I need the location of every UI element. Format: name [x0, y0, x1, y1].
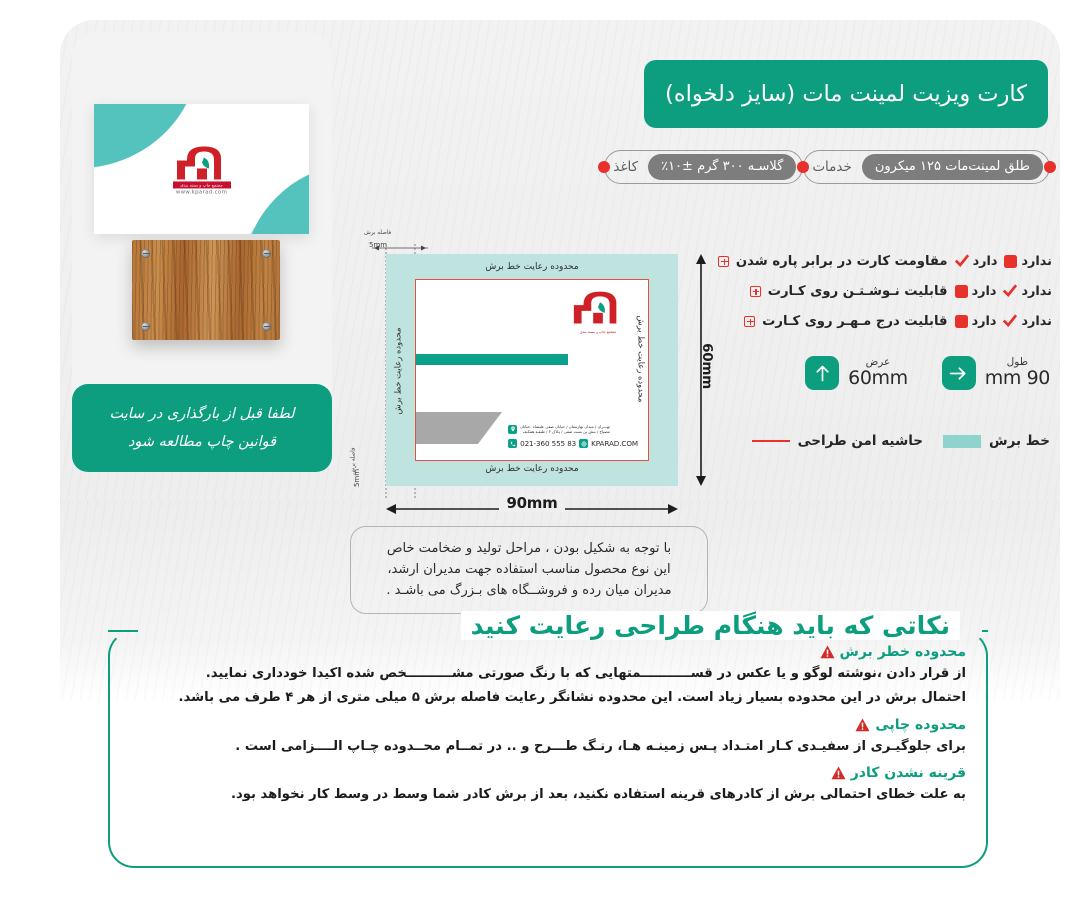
- sample-business-card: مجتمع چاپ و بسته بندی www.kparad.com: [94, 104, 309, 234]
- card-logo: مجتمع چاپ و بسته بندی: [561, 291, 635, 334]
- feature-no-label: ندارد: [1021, 254, 1052, 269]
- kparad-logo-icon: [173, 146, 231, 180]
- note-line: از قرار دادن ،نوشته لوگو و یا عکس در قسـ…: [130, 662, 966, 686]
- bullet-dot-icon: [1044, 161, 1056, 173]
- card-contact-block: تهـــران / میدان بهارستان / خیابان صفی ع…: [508, 424, 638, 448]
- bleed-area: مجتمع چاپ و بسته بندی تهـــران / میدان ب…: [386, 254, 678, 486]
- product-title: کارت ویزیت لمینت مات (سایز دلخواه): [665, 81, 1027, 107]
- screw-icon: [141, 249, 150, 258]
- legend-label: حاشیه امن طراحی: [798, 433, 923, 449]
- feature-yes-label: دارد: [972, 284, 997, 299]
- arrow-up-icon: [805, 356, 839, 390]
- plus-icon: [750, 286, 761, 297]
- feature-label: مقاومت کارت در برابر پاره شدن: [736, 254, 948, 269]
- dimension-length-value: 90 mm: [985, 369, 1050, 389]
- dimension-width-value: 60mm: [848, 369, 908, 389]
- card-spec-diagram: فاصله برش 5mm فاصله برش 5mm: [350, 226, 730, 518]
- notice-line-1: لطفا قبل از بارگذاری در سایت: [109, 407, 294, 422]
- width-dimension-label-wrap: 90mm: [386, 494, 678, 512]
- square-icon: [1004, 255, 1017, 268]
- spec-pill-row: طلق لمینت‌مات ۱۲۵ میکرون خدمات گلاسـه ۳۰…: [604, 150, 1050, 184]
- card-artboard: مجتمع چاپ و بسته بندی تهـــران / میدان ب…: [415, 279, 649, 461]
- globe-icon: [579, 439, 588, 448]
- description-line-3: مدیران میان رده و فروشــگاه های بـزرگ می…: [367, 580, 691, 601]
- note-line: برای جلوگیـری از سفیـدی کـار امتـداد پـس…: [130, 735, 966, 759]
- infographic-page: مجتمع چاپ و بسته بندی www.kparad.com لطف…: [0, 0, 1086, 911]
- warning-triangle-icon: [831, 766, 846, 780]
- card-logo-tagline: مجتمع چاپ و بسته بندی: [561, 330, 635, 334]
- feature-list: ندارد دارد مقاومت کارت در برابر پاره شدن…: [767, 246, 1052, 336]
- warning-triangle-icon: [820, 645, 835, 659]
- sample-card-website: www.kparad.com: [156, 189, 248, 195]
- spec-key-services: خدمات: [804, 159, 862, 175]
- product-description-box: با توجه به شکیل بودن ، مراحل تولید و ضخا…: [350, 526, 708, 614]
- feature-row: ندارد دارد قابلیت نـوشـتـن روی کـارت: [767, 276, 1052, 306]
- design-notes-heading: نکاتی که باید هنگام طراحی رعایت کنید: [461, 611, 960, 640]
- product-photo: مجتمع چاپ و بسته بندی www.kparad.com: [72, 32, 332, 362]
- diagram-left-label: محدوده رعایت خط برش: [392, 328, 402, 415]
- note-title: قرینه نشدن کادر: [851, 765, 966, 781]
- spec-value-paper: گلاسـه ۳۰۰ گرم ±۱۰٪: [648, 154, 796, 180]
- legend-item-safe-margin: حاشیه امن طراحی: [752, 433, 923, 449]
- description-line-1: با توجه به شکیل بودن ، مراحل تولید و ضخا…: [367, 538, 691, 559]
- spec-key-paper: کاغذ: [605, 159, 648, 175]
- note-title: محدوده خطر برش: [840, 644, 966, 660]
- check-icon: [955, 254, 969, 268]
- description-line-2: این نوع محصول مناسب استفاده جهت مدیران ا…: [367, 559, 691, 580]
- design-notes-body: محدوده خطر برش از قرار دادن ،نوشته لوگو …: [130, 644, 966, 814]
- dimension-width: عرض 60mm: [805, 356, 908, 390]
- notes-border-right: [982, 630, 988, 632]
- check-icon: [1003, 314, 1017, 328]
- note-title: محدوده چاپی: [875, 717, 966, 733]
- card-address-2: مصباح / نبش بن بست صفی / پـلاک ۴ / طبقـه…: [520, 429, 610, 435]
- feature-option-yes: دارد: [955, 314, 997, 329]
- square-icon: [955, 285, 968, 298]
- location-pin-icon: [508, 425, 517, 434]
- spec-value-services: طلق لمینت‌مات ۱۲۵ میکرون: [862, 154, 1043, 180]
- plus-icon: [744, 316, 755, 327]
- product-title-banner: کارت ویزیت لمینت مات (سایز دلخواه): [644, 60, 1048, 128]
- card-phone: 021-360 555 83: [520, 439, 576, 448]
- feature-option-no: ندارد: [1004, 254, 1052, 269]
- feature-row: ندارد دارد قابلیت درج مـهـر روی کـارت: [767, 306, 1052, 336]
- legend: خط برش حاشیه امن طراحی: [752, 433, 1050, 449]
- sample-card-logo: مجتمع چاپ و بسته بندی www.kparad.com: [156, 146, 248, 195]
- red-line-swatch-icon: [752, 440, 790, 443]
- feature-yes-label: دارد: [972, 314, 997, 329]
- note-line: احتمال برش در این محدوده بسیار زیاد است.…: [130, 686, 966, 710]
- wooden-display-block: [132, 240, 280, 340]
- product-details-panel: کارت ویزیت لمینت مات (سایز دلخواه) طلق ل…: [348, 28, 1060, 600]
- phone-icon: [508, 439, 517, 448]
- spec-group-paper: گلاسـه ۳۰۰ گرم ±۱۰٪ کاغذ: [604, 150, 803, 184]
- note-block-print-area: محدوده چاپی برای جلوگیـری از سفیـدی کـار…: [130, 717, 966, 759]
- screw-icon: [262, 322, 271, 331]
- spec-group-services: طلق لمینت‌مات ۱۲۵ میکرون خدمات: [803, 150, 1050, 184]
- note-block-cut-danger: محدوده خطر برش از قرار دادن ،نوشته لوگو …: [130, 644, 966, 711]
- note-line: به علت خطای احتمالی برش از کادرهای قرینه…: [130, 783, 966, 807]
- note-title-row: محدوده خطر برش: [130, 644, 966, 660]
- feature-option-no: ندارد: [1003, 284, 1052, 299]
- note-title-row: محدوده چاپی: [130, 717, 966, 733]
- notes-border-left: [108, 630, 138, 632]
- warning-triangle-icon: [855, 718, 870, 732]
- card-grey-shape: [416, 412, 502, 444]
- note-block-symmetry: قرینه نشدن کادر به علت خطای احتمالی برش …: [130, 765, 966, 807]
- square-icon: [955, 315, 968, 328]
- dimension-length: طول 90 mm: [942, 356, 1050, 390]
- legend-label: خط برش: [989, 433, 1050, 449]
- height-dimension-label: 60mm: [699, 343, 715, 389]
- feature-label: قابلیت درج مـهـر روی کـارت: [762, 314, 947, 329]
- kparad-logo-icon: [570, 291, 626, 325]
- card-contact-line: KPARAD.COM 021-360 555 83: [508, 439, 638, 448]
- feature-option-yes: دارد: [955, 284, 997, 299]
- diagram-right-label: محدوده رعایت خط برش: [637, 316, 647, 403]
- feature-no-label: ندارد: [1021, 284, 1052, 299]
- feature-option-no: ندارد: [1003, 314, 1052, 329]
- feature-yes-label: دارد: [973, 254, 998, 269]
- product-preview-column: مجتمع چاپ و بسته بندی www.kparad.com لطف…: [72, 32, 332, 472]
- arrow-right-icon: [942, 356, 976, 390]
- note-title-row: قرینه نشدن کادر: [130, 765, 966, 781]
- feature-no-label: ندارد: [1021, 314, 1052, 329]
- card-teal-bar: [416, 354, 568, 365]
- feature-option-yes: دارد: [955, 254, 998, 269]
- design-notes-section: نکاتی که باید هنگام طراحی رعایت کنید محد…: [108, 630, 988, 868]
- dimension-badges: طول 90 mm عرض 60mm: [805, 356, 1050, 390]
- check-icon: [1003, 284, 1017, 298]
- width-dimension-label: 90mm: [499, 494, 566, 512]
- feature-label: قابلیت نـوشـتـن روی کـارت: [768, 284, 948, 299]
- diagram-top-label: محدوده رعایت خط برش: [386, 262, 678, 272]
- legend-item-cut-line: خط برش: [943, 433, 1050, 449]
- feature-row: ندارد دارد مقاومت کارت در برابر پاره شدن: [767, 246, 1052, 276]
- notice-line-2: قوانین چاپ مطالعه شود: [128, 435, 276, 450]
- teal-band-swatch-icon: [943, 435, 981, 448]
- upload-notice-box: لطفا قبل از بارگذاری در سایت قوانین چاپ …: [72, 384, 332, 472]
- screw-icon: [141, 322, 150, 331]
- diagram-bottom-label: محدوده رعایت خط برش: [386, 464, 678, 474]
- card-website: KPARAD.COM: [591, 439, 638, 448]
- sample-card-tagline: مجتمع چاپ و بسته بندی: [173, 181, 231, 188]
- card-address-line: تهـــران / میدان بهارستان / خیابان صفی ع…: [508, 424, 610, 435]
- screw-icon: [262, 249, 271, 258]
